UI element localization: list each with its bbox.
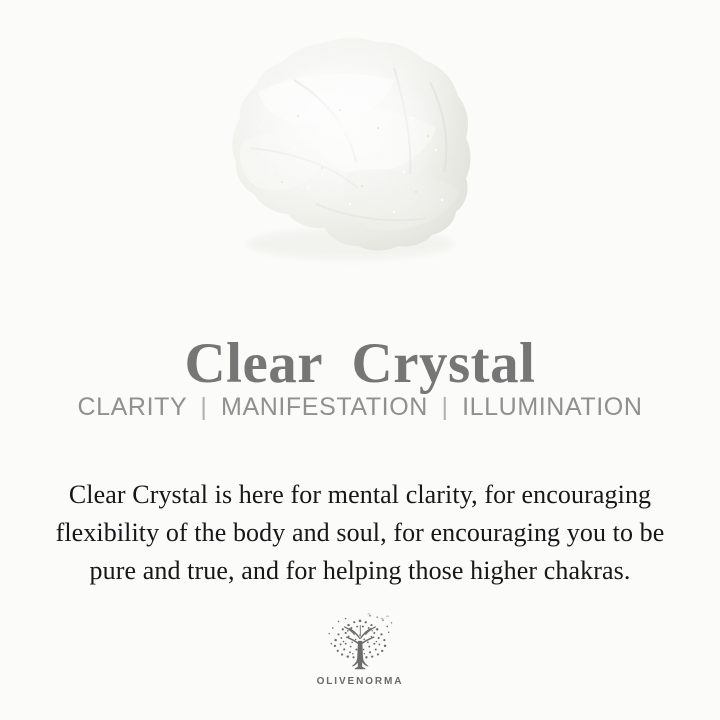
- keyword-separator-2: |: [435, 393, 454, 421]
- keyword-illumination: ILLUMINATION: [462, 393, 642, 421]
- keyword-separator-1: |: [194, 393, 213, 421]
- product-description: Clear Crystal is here for mental clarity…: [42, 476, 678, 590]
- brand-name: OLIVENORMA: [317, 676, 404, 687]
- keyword-manifestation: MANIFESTATION: [221, 393, 428, 421]
- raw-clear-quartz-crystal-image: [198, 22, 498, 282]
- product-info-card: Clear Crystal CLARITY | MANIFESTATION | …: [0, 0, 720, 720]
- keyword-clarity: CLARITY: [78, 393, 187, 421]
- olive-tree-icon: [317, 612, 403, 674]
- crystal-image-stage: [0, 0, 720, 285]
- page-title: Clear Crystal: [0, 334, 720, 394]
- keyword-list: CLARITY | MANIFESTATION | ILLUMINATION: [0, 394, 720, 422]
- brand-logo: OLIVENORMA: [0, 612, 720, 687]
